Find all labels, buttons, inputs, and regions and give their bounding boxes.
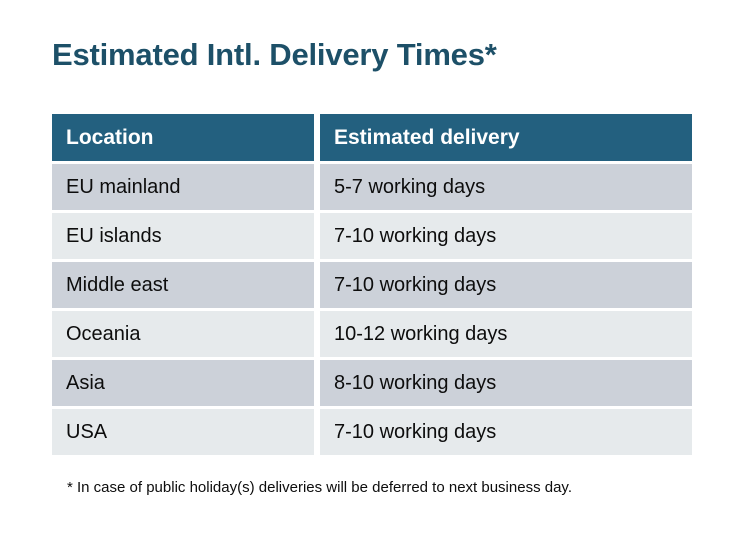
page-title: Estimated Intl. Delivery Times*: [52, 36, 497, 73]
cell-location: Asia: [52, 360, 314, 406]
cell-estimated-delivery: 7-10 working days: [320, 409, 692, 455]
table-row: EU islands 7-10 working days: [52, 213, 692, 259]
cell-location: EU islands: [52, 213, 314, 259]
cell-estimated-delivery: 7-10 working days: [320, 213, 692, 259]
cell-location: USA: [52, 409, 314, 455]
footnote-text: * In case of public holiday(s) deliverie…: [67, 478, 572, 498]
cell-location: EU mainland: [52, 164, 314, 210]
cell-estimated-delivery: 8-10 working days: [320, 360, 692, 406]
table-row: Middle east 7-10 working days: [52, 262, 692, 308]
cell-location: Oceania: [52, 311, 314, 357]
cell-estimated-delivery: 5-7 working days: [320, 164, 692, 210]
table-row: Asia 8-10 working days: [52, 360, 692, 406]
cell-location: Middle east: [52, 262, 314, 308]
delivery-times-table: Location Estimated delivery EU mainland …: [52, 114, 692, 458]
column-header-estimated-delivery: Estimated delivery: [320, 114, 692, 161]
column-header-location: Location: [52, 114, 314, 161]
cell-estimated-delivery: 10-12 working days: [320, 311, 692, 357]
table-row: Oceania 10-12 working days: [52, 311, 692, 357]
delivery-times-page: Estimated Intl. Delivery Times* Location…: [0, 0, 745, 536]
table-row: EU mainland 5-7 working days: [52, 164, 692, 210]
table-header-row: Location Estimated delivery: [52, 114, 692, 161]
cell-estimated-delivery: 7-10 working days: [320, 262, 692, 308]
table-row: USA 7-10 working days: [52, 409, 692, 455]
